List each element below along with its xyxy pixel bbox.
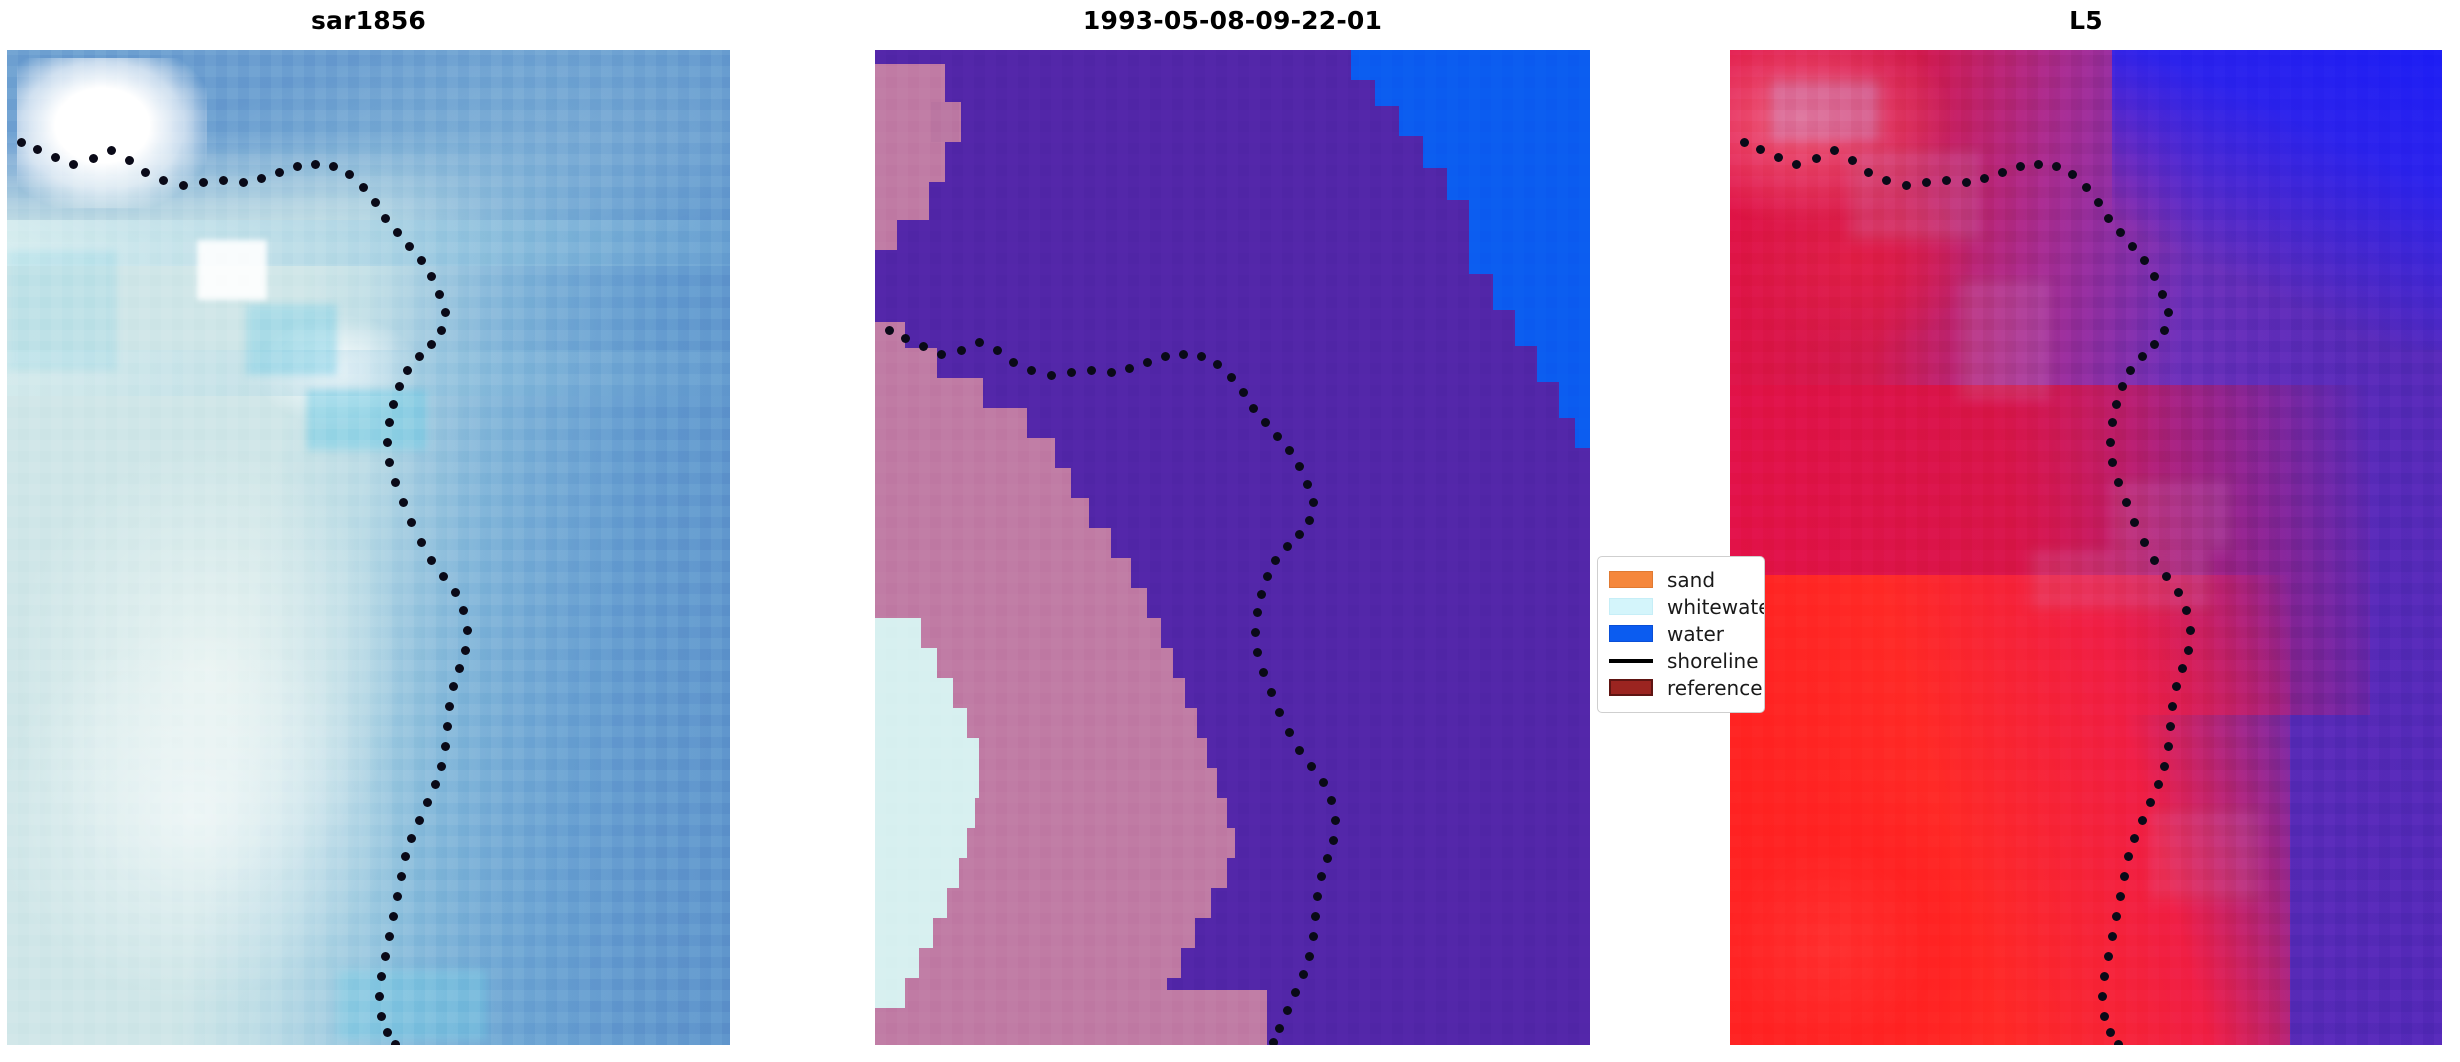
shoreline-overlay-classified xyxy=(875,50,1590,1045)
legend-item-sand[interactable]: sand xyxy=(1598,566,1764,593)
shoreline-overlay-sar xyxy=(7,50,730,1045)
reference-shoreline-swatch-icon xyxy=(1609,679,1653,696)
whitewater-swatch-icon xyxy=(1609,598,1653,615)
legend-label-shoreline: shoreline xyxy=(1667,649,1759,673)
water-swatch-icon xyxy=(1609,625,1653,642)
image-panel-classified[interactable] xyxy=(875,50,1590,1045)
panel-title-sar: sar1856 xyxy=(7,4,730,38)
image-panel-sar[interactable] xyxy=(7,50,730,1045)
legend-label-water: water xyxy=(1667,622,1724,646)
figure-root: sar1856 1993-05-08-09-22-01 L5 xyxy=(0,0,2460,1062)
legend-item-water[interactable]: water xyxy=(1598,620,1764,647)
image-panel-l5[interactable] xyxy=(1730,50,2442,1045)
legend-label-reference-shoreline: reference shoreline xyxy=(1667,676,1765,700)
sand-swatch-icon xyxy=(1609,571,1653,588)
legend-box[interactable]: sand whitewater water shoreline referenc… xyxy=(1597,556,1765,713)
panel-title-classified: 1993-05-08-09-22-01 xyxy=(875,4,1590,38)
legend-item-reference-shoreline[interactable]: reference shoreline xyxy=(1598,674,1764,701)
panel-title-l5: L5 xyxy=(1730,4,2442,38)
legend-item-shoreline[interactable]: shoreline xyxy=(1598,647,1764,674)
shoreline-overlay-l5 xyxy=(1730,50,2442,1045)
legend-label-sand: sand xyxy=(1667,568,1715,592)
shoreline-line-icon xyxy=(1609,659,1653,663)
legend-label-whitewater: whitewater xyxy=(1667,595,1765,619)
legend-item-whitewater[interactable]: whitewater xyxy=(1598,593,1764,620)
